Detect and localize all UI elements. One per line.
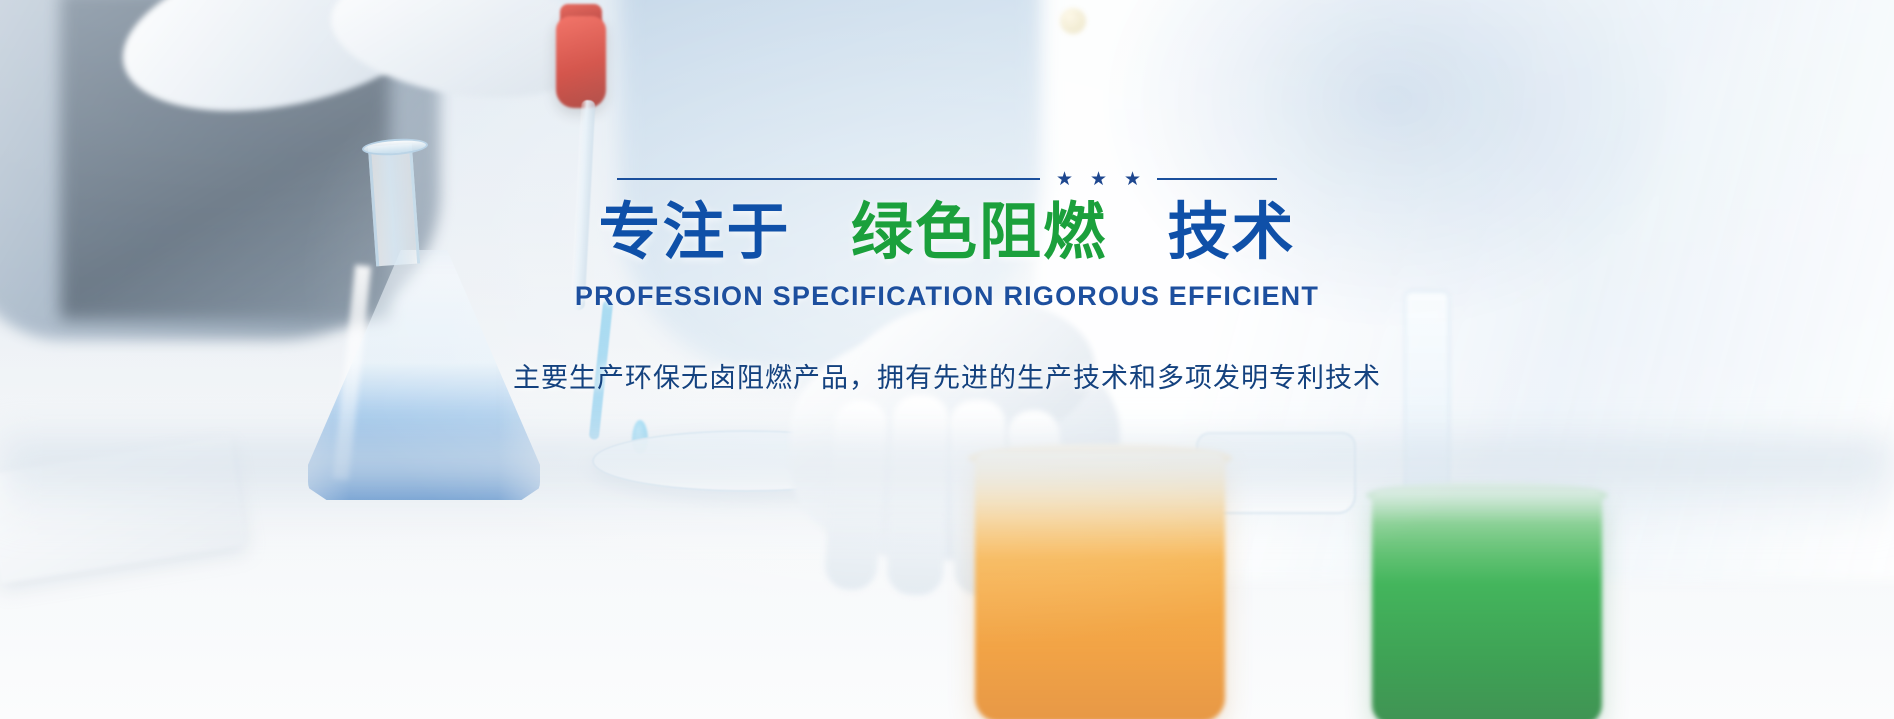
banner-text-overlay: ★ ★ ★ 专注于 绿色阻燃 技术 PROFESSION SPECIFICATI… bbox=[0, 0, 1894, 719]
subtitle-english: PROFESSION SPECIFICATION RIGOROUS EFFICI… bbox=[575, 281, 1319, 312]
star-icon: ★ bbox=[1090, 170, 1107, 187]
headline-part-3: 技术 bbox=[1167, 198, 1295, 267]
divider-line-right bbox=[1157, 178, 1277, 180]
description-chinese: 主要生产环保无卤阻燃产品，拥有先进的生产技术和多项发明专利技术 bbox=[513, 356, 1381, 395]
decorative-rule-row: ★ ★ ★ bbox=[617, 170, 1277, 187]
hero-banner: ★ ★ ★ 专注于 绿色阻燃 技术 PROFESSION SPECIFICATI… bbox=[0, 0, 1894, 719]
headline-part-2: 绿色阻燃 bbox=[851, 198, 1107, 267]
divider-line-left bbox=[617, 178, 1040, 180]
star-group: ★ ★ ★ bbox=[1056, 170, 1141, 187]
star-icon: ★ bbox=[1124, 170, 1141, 187]
page-title: 专注于 绿色阻燃 技术 bbox=[599, 200, 1296, 265]
star-icon: ★ bbox=[1056, 170, 1073, 187]
headline-part-1: 专注于 bbox=[599, 198, 791, 267]
